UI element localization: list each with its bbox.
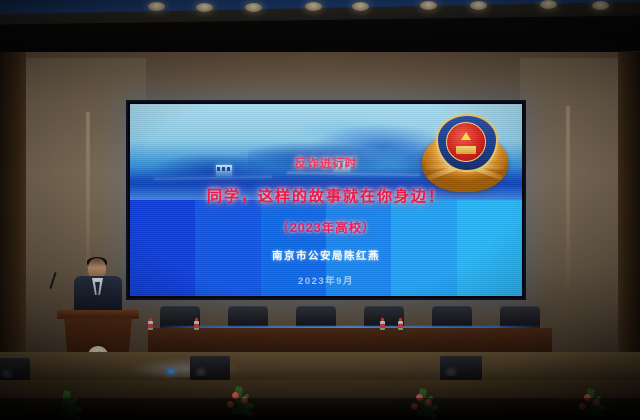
left-wall-dark: [0, 52, 26, 352]
downlight-icon: [245, 3, 262, 12]
water-bottle-icon: [380, 318, 385, 330]
water-bottle-icon: [398, 318, 403, 330]
slide-subtitle: （2023年高校）: [130, 217, 522, 236]
downlight-icon: [470, 1, 487, 10]
wall-panel: [574, 58, 618, 350]
foreground-shadow: [0, 398, 640, 420]
stage-monitor-speaker: [440, 356, 482, 380]
wall-seam: [566, 106, 570, 290]
police-badge-icon: [420, 110, 510, 194]
downlight-icon: [305, 2, 322, 11]
stage-monitor-speaker: [0, 358, 30, 382]
led-screen: 反诈进行时 同学，这样的故事就在你身边！ （2023年高校） 南京市公安局陈红燕…: [126, 100, 526, 300]
badge-tiananmen-icon: [456, 146, 476, 154]
downlight-icon: [148, 2, 165, 11]
slide-surface: 反诈进行时 同学，这样的故事就在你身边！ （2023年高校） 南京市公安局陈红燕…: [130, 104, 522, 296]
badge-star-icon: [461, 132, 471, 140]
water-bottle-icon: [194, 318, 199, 330]
downlight-icon: [592, 1, 609, 10]
podium-top: [57, 310, 139, 319]
cable-indicator-led: [168, 370, 174, 373]
stage-floor: [0, 352, 640, 382]
slide-title: 同学，这样的故事就在你身边！: [130, 185, 522, 206]
slide-kicker: 反诈进行时: [130, 155, 522, 171]
downlight-icon: [352, 2, 369, 11]
slide-presenter: 南京市公安局陈红燕: [130, 248, 522, 263]
downlight-icon: [540, 0, 557, 9]
water-bottle-icon: [148, 318, 153, 330]
downlight-icon: [196, 3, 213, 12]
downlight-icon: [420, 1, 437, 10]
slide-date: 2023年9月: [130, 273, 522, 287]
auditorium-photo: 反诈进行时 同学，这样的故事就在你身边！ （2023年高校） 南京市公安局陈红燕…: [0, 0, 640, 420]
stage-monitor-speaker: [190, 356, 230, 380]
right-wall-dark: [618, 52, 640, 352]
